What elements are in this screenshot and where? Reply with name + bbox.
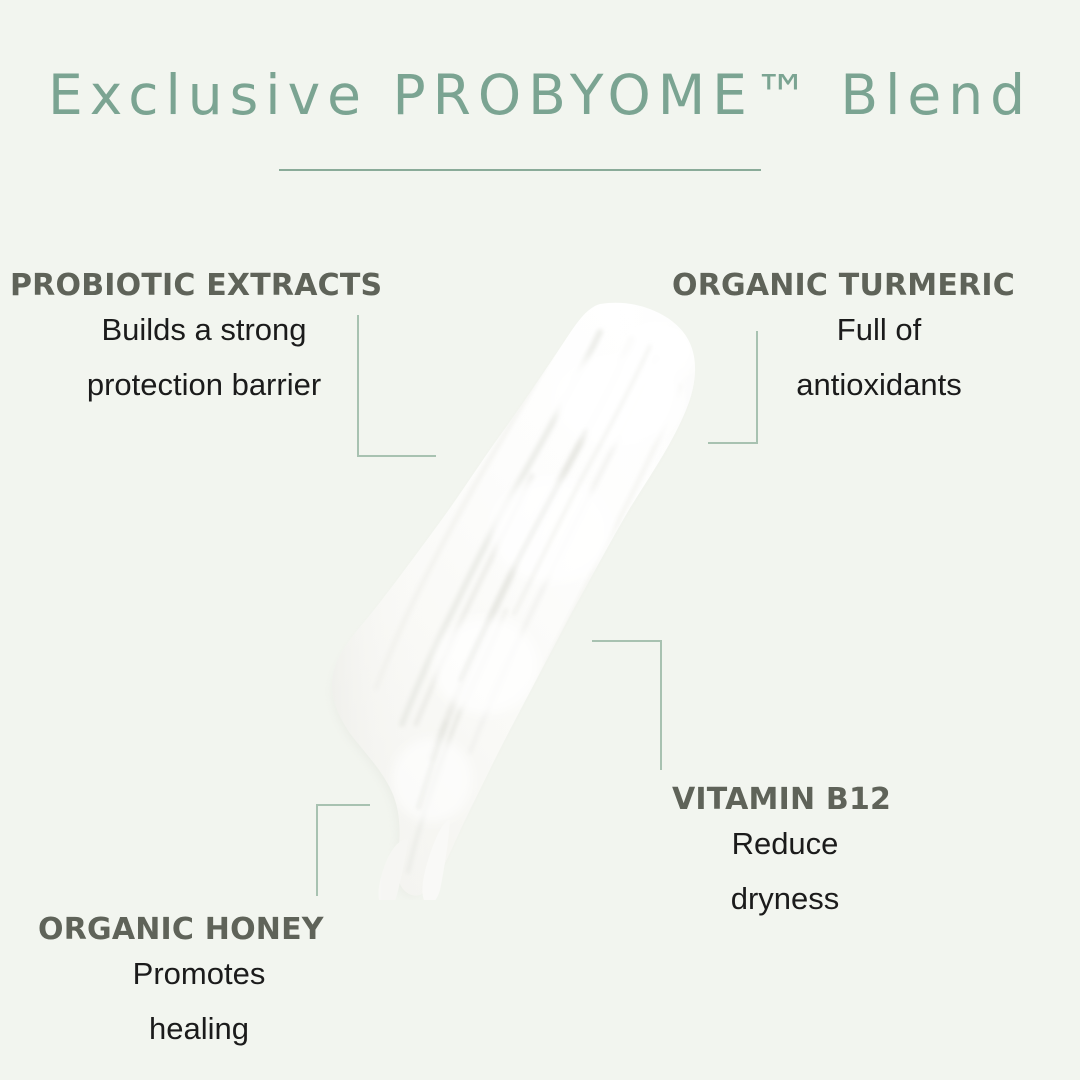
ingredient-description-organic-honey: Promotes healing — [38, 946, 368, 1056]
ingredient-name-organic-honey: ORGANIC HONEY — [38, 914, 368, 946]
ingredient-name-vitamin-b12: VITAMIN B12 — [672, 784, 1002, 816]
ingredient-description-vitamin-b12: Reduce dryness — [672, 816, 1002, 926]
callout-vitamin-b12: VITAMIN B12 Reduce dryness — [672, 784, 1002, 926]
page-title: Exclusive PROBYOME™ Blend — [0, 63, 1080, 127]
callout-probiotic-extracts: PROBIOTIC EXTRACTS Builds a strong prote… — [10, 270, 410, 412]
infographic-canvas: Exclusive PROBYOME™ Blend — [0, 0, 1080, 1080]
ingredient-description-probiotic-extracts: Builds a strong protection barrier — [10, 302, 410, 412]
callout-organic-turmeric: ORGANIC TURMERIC Full of antioxidants — [672, 270, 1072, 412]
title-divider — [279, 169, 761, 171]
ingredient-description-organic-turmeric: Full of antioxidants — [672, 302, 1072, 412]
ingredient-name-probiotic-extracts: PROBIOTIC EXTRACTS — [10, 270, 410, 302]
callout-organic-honey: ORGANIC HONEY Promotes healing — [38, 914, 368, 1056]
ingredient-name-organic-turmeric: ORGANIC TURMERIC — [672, 270, 1072, 302]
